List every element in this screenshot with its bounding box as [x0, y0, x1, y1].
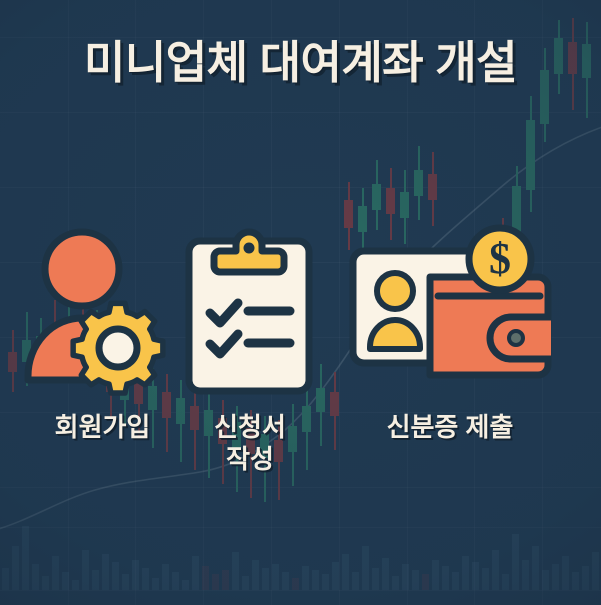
step-1-icon-user-gear[interactable] [20, 223, 172, 398]
id-card-wallet-coin-icon: $ [348, 225, 558, 393]
svg-text:$: $ [489, 234, 511, 283]
steps-row: $ [0, 205, 601, 405]
page-title: 미니업체 대여계좌 개설 [0, 37, 601, 89]
step-3-label: 신분증 제출 [340, 412, 560, 444]
step-3-icon-id-wallet[interactable]: $ [348, 225, 558, 393]
candlestick-body [428, 174, 437, 200]
step-2-icon-clipboard[interactable] [184, 219, 314, 397]
step-1-label: 회원가입 [10, 412, 195, 444]
candlestick-body [414, 170, 423, 196]
poster-canvas: 미니업체 대여계좌 개설 [0, 0, 601, 605]
clipboard-checklist-icon [184, 219, 314, 397]
candlestick-body [526, 120, 535, 190]
step-2-label: 신청서 작성 [175, 412, 325, 475]
user-gear-icon [20, 223, 172, 398]
